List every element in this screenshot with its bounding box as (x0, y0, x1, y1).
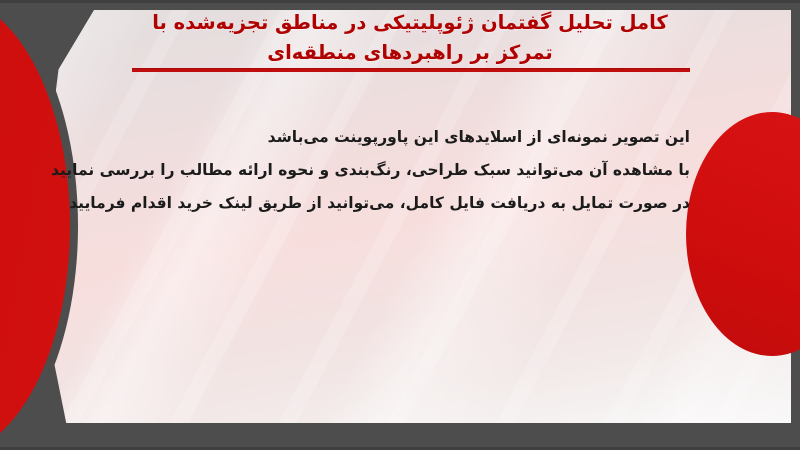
frame-top-edge (0, 0, 800, 3)
slide-title-line-1: کامل تحلیل گفتمان ژئوپلیتیکی در مناطق تج… (110, 8, 710, 38)
body-text-line-2: با مشاهده آن می‌توانید سبک طراحی، رنگ‌بن… (60, 154, 690, 187)
slide-title-line-2: تمرکز بر راهبردهای منطقه‌ای (110, 38, 710, 68)
body-text-line-3: در صورت تمایل به دریافت فایل کامل، می‌تو… (60, 187, 690, 220)
body-text-line-1: این تصویر نمونه‌ای از اسلایدهای این پاور… (60, 121, 690, 154)
title-divider-rule (132, 68, 690, 72)
presentation-slide: کامل تحلیل گفتمان ژئوپلیتیکی در مناطق تج… (0, 0, 800, 450)
slide-body-text: این تصویر نمونه‌ای از اسلایدهای این پاور… (60, 121, 690, 220)
slide-title: کامل تحلیل گفتمان ژئوپلیتیکی در مناطق تج… (110, 8, 710, 68)
slide-content-panel (20, 10, 791, 434)
